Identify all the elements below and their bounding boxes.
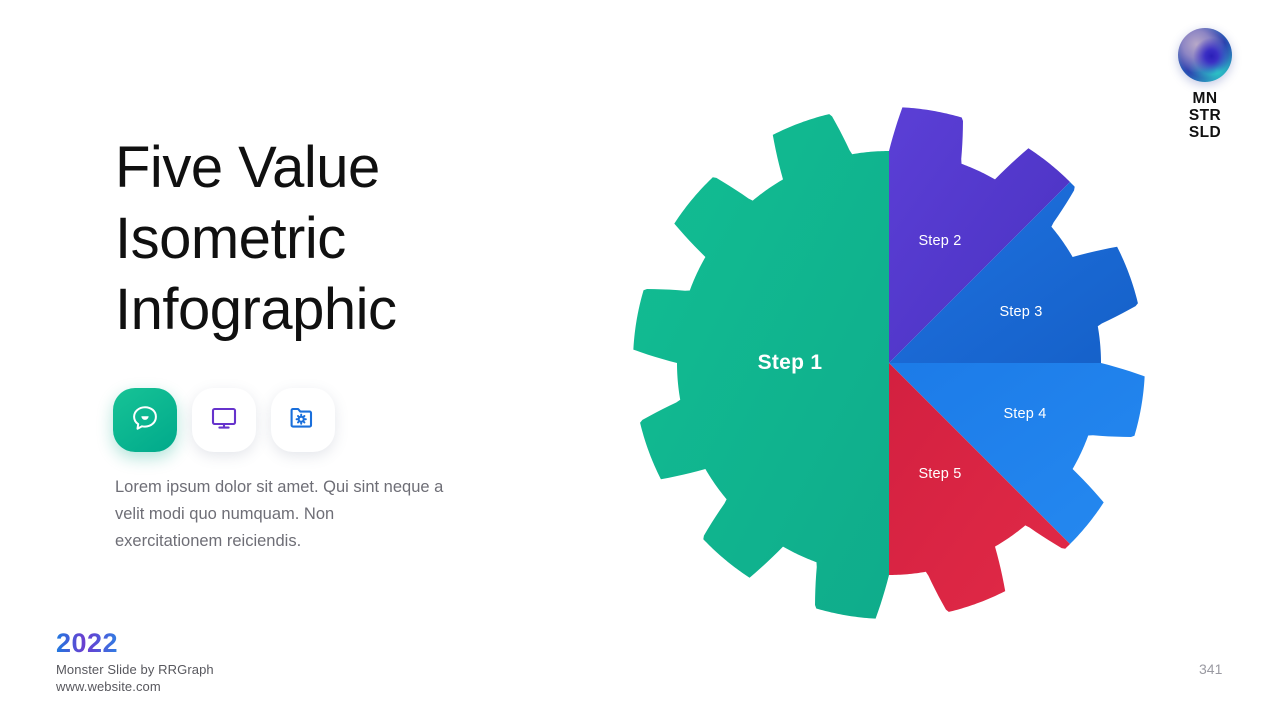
gear-segment-1[interactable] bbox=[633, 114, 889, 619]
footer-credit: Monster Slide by RRGraph bbox=[56, 662, 214, 677]
folder-gear-icon bbox=[288, 403, 318, 438]
icon-button-chat[interactable] bbox=[113, 388, 177, 452]
gear-infographic: Step 1Step 2Step 3Step 4Step 5 bbox=[633, 107, 1145, 619]
icon-button-folder-settings[interactable] bbox=[271, 388, 335, 452]
footer-website[interactable]: www.website.com bbox=[56, 679, 161, 694]
feature-icon-row bbox=[113, 388, 335, 452]
logo-line-2: STR bbox=[1175, 107, 1235, 124]
page-title: Five Value Isometric Infographic bbox=[115, 132, 545, 345]
logo-text: MN STR SLD bbox=[1175, 90, 1235, 141]
footer-year: 2022 bbox=[56, 628, 118, 659]
icon-button-monitor[interactable] bbox=[192, 388, 256, 452]
gradient-sphere-icon bbox=[1178, 28, 1232, 82]
page-number: 341 bbox=[1199, 661, 1222, 677]
monitor-icon bbox=[209, 403, 239, 438]
gear-chart bbox=[633, 107, 1145, 619]
brand-logo: MN STR SLD bbox=[1175, 28, 1235, 141]
logo-line-3: SLD bbox=[1175, 124, 1235, 141]
logo-line-1: MN bbox=[1175, 90, 1235, 107]
slide-canvas: Five Value Isometric Infographic bbox=[0, 0, 1280, 720]
body-paragraph: Lorem ipsum dolor sit amet. Qui sint neq… bbox=[115, 474, 445, 555]
chat-bubble-icon bbox=[129, 402, 161, 439]
